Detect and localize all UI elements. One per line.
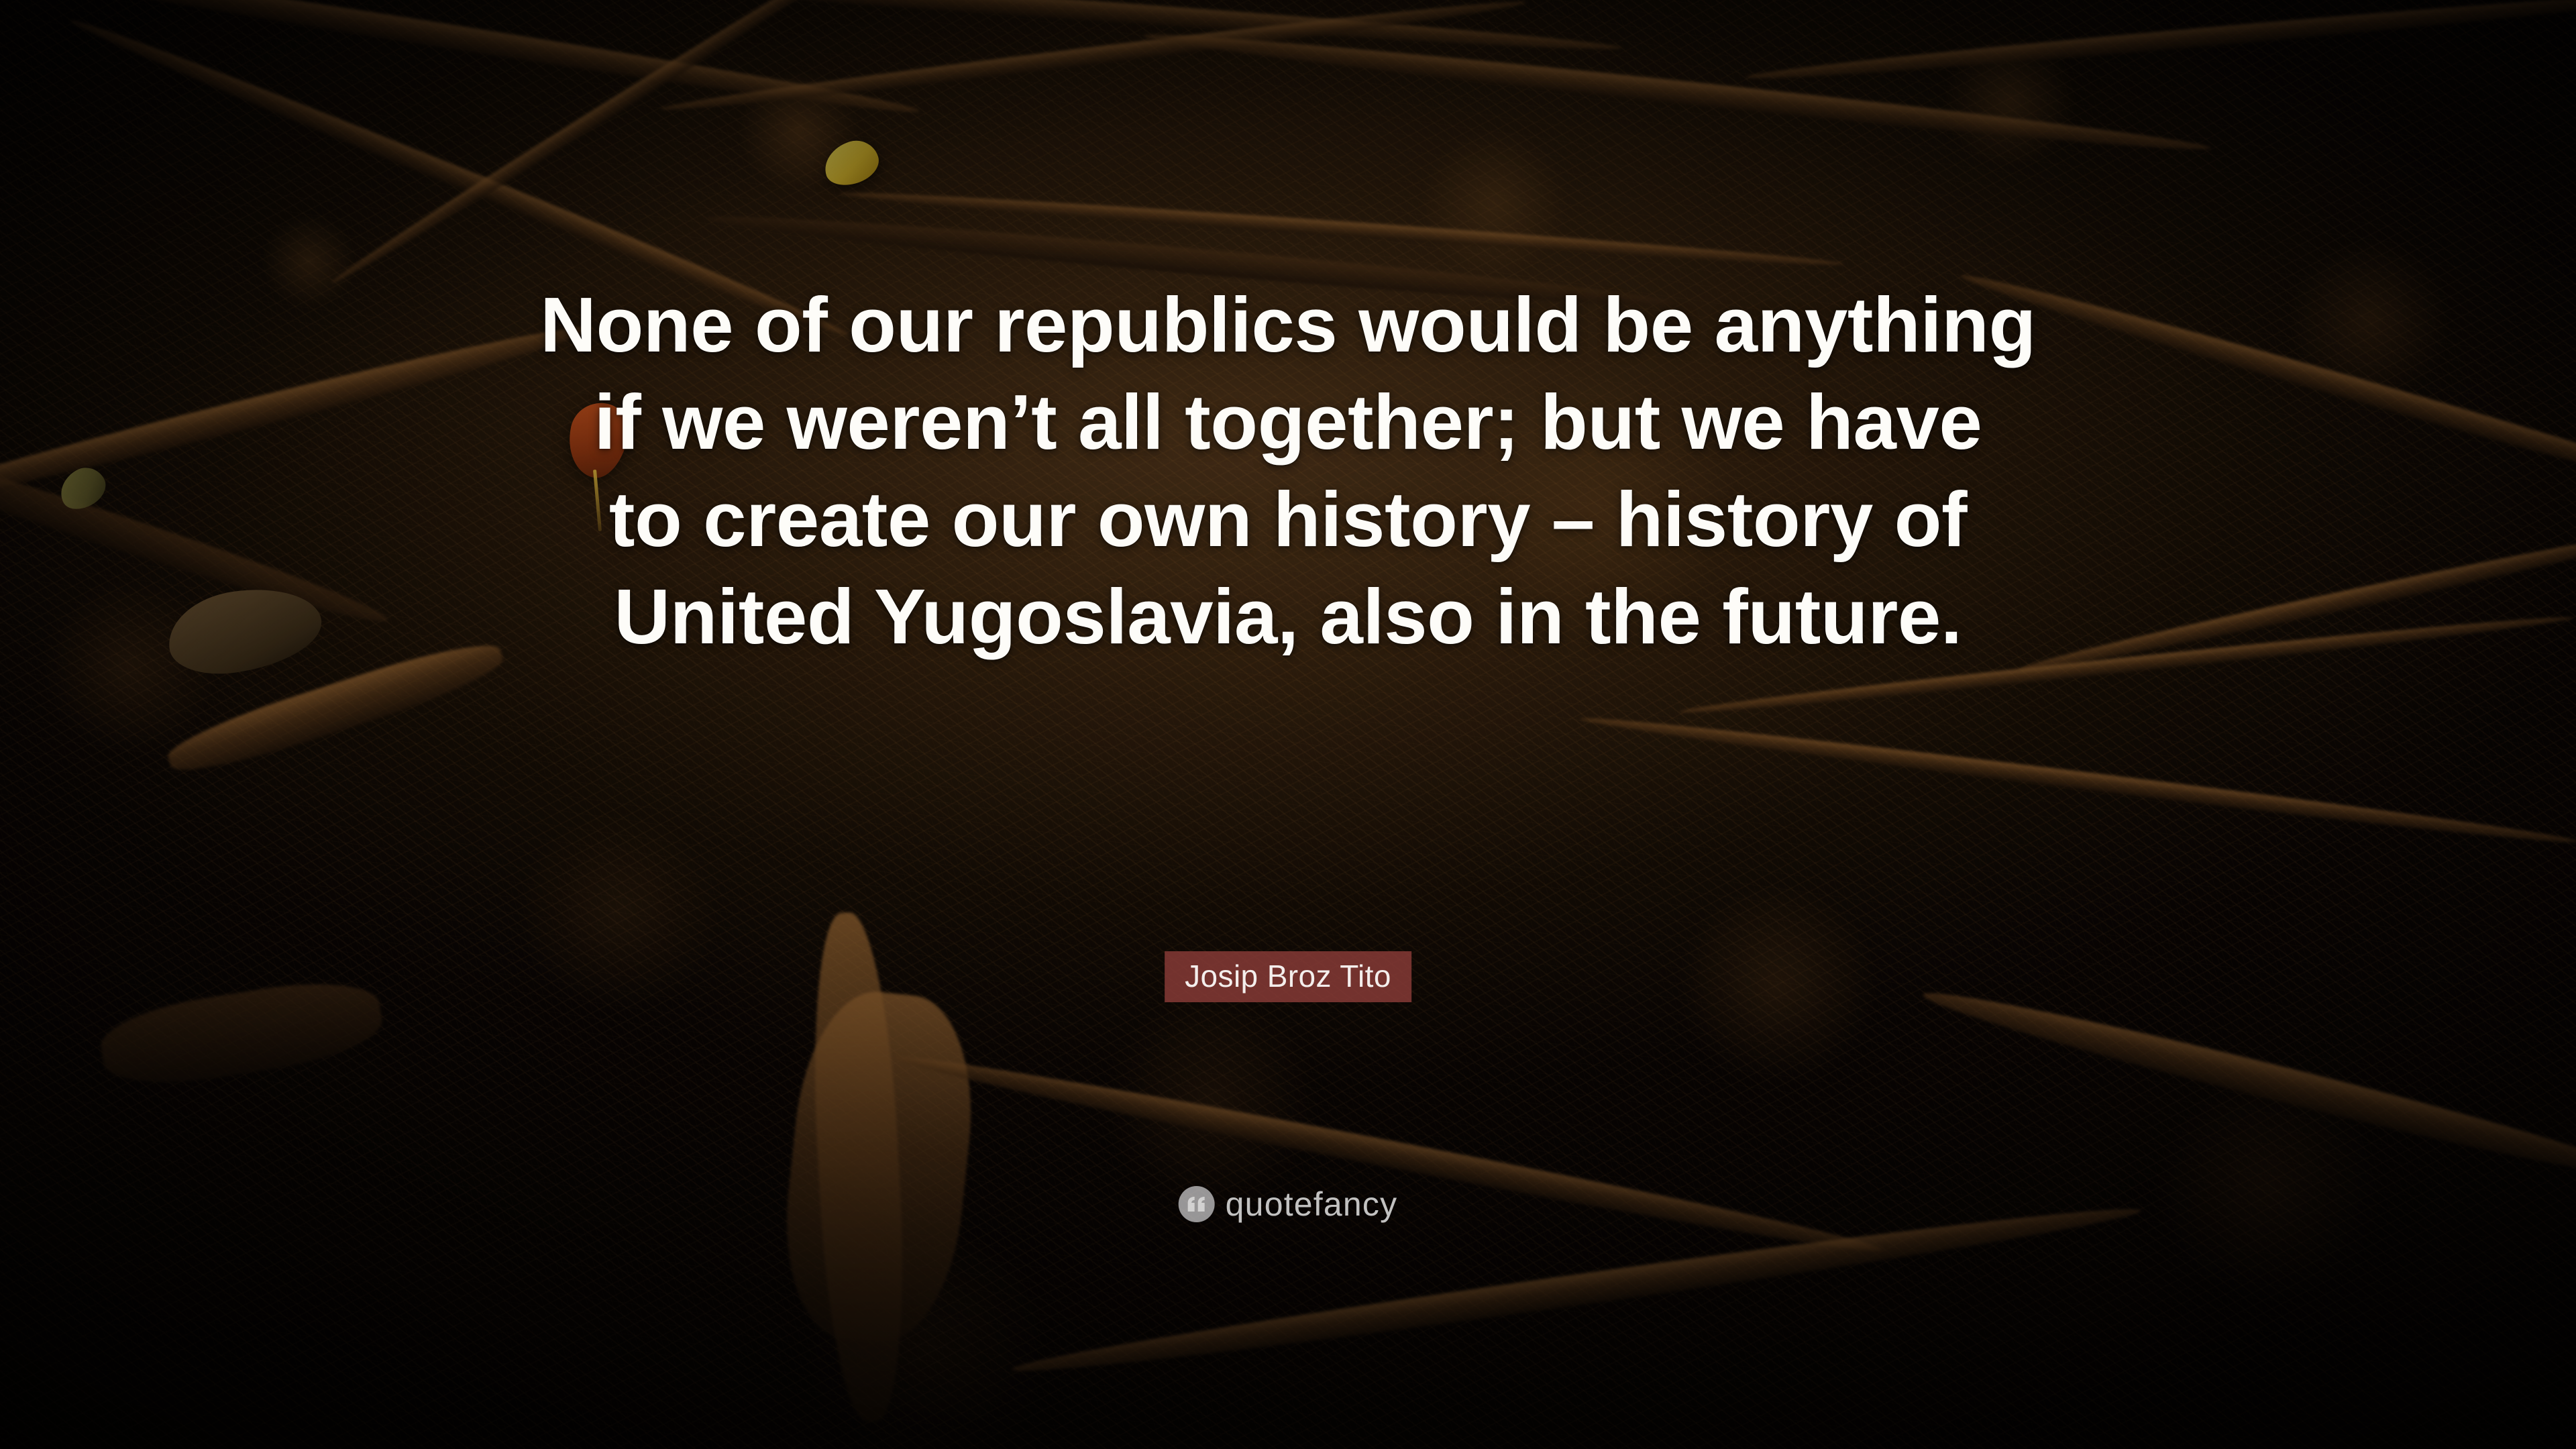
quote-text-block: None of our republics would be anything …	[429, 276, 2147, 665]
quotefancy-wordmark: quotefancy	[1226, 1187, 1398, 1221]
quotefancy-watermark[interactable]: quotefancy	[1179, 1186, 1398, 1222]
quote-poster: None of our republics would be anything …	[0, 0, 2576, 1449]
poster-content: None of our republics would be anything …	[0, 0, 2576, 1449]
quote-line-4: United Yugoslavia, also in the future.	[429, 568, 2147, 665]
quote-line-2: if we weren’t all together; but we have	[429, 374, 2147, 471]
quote-line-3: to create our own history – history of	[429, 471, 2147, 568]
quote-line-1: None of our republics would be anything	[429, 276, 2147, 374]
quote-mark-icon	[1179, 1186, 1215, 1222]
author-attribution-badge[interactable]: Josip Broz Tito	[1165, 951, 1411, 1002]
